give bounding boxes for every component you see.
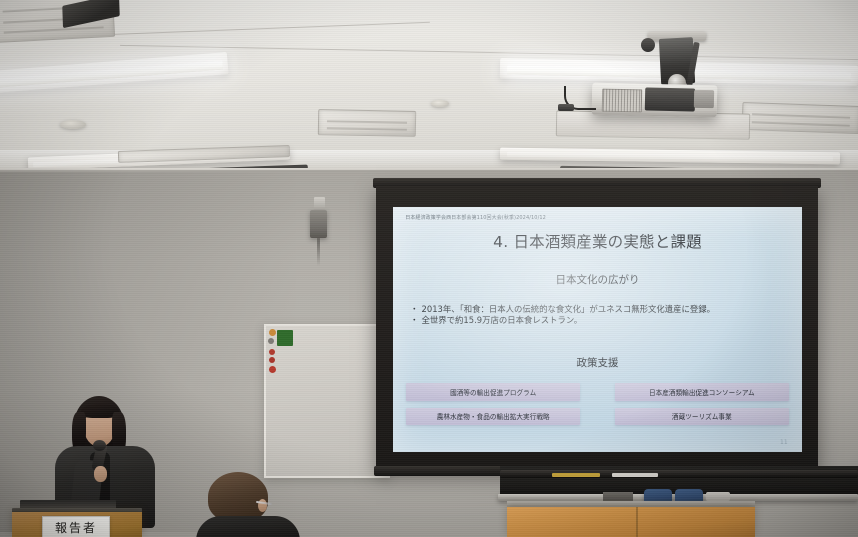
policy-box-3: 農林水産物・食品の輸出拡大実行戦略 (406, 408, 580, 426)
policy-box-1: 國酒等の輸出促進プログラム (406, 383, 580, 401)
slide-bullet-1: ・2013年、「和食：日本人の伝統的な食文化」がユネスコ無形文化遺産に登録。 (410, 304, 792, 316)
ceiling-vent-center (318, 109, 416, 137)
slide-page-number: 11 (780, 439, 788, 446)
smoke-detector (60, 120, 86, 129)
slide-bullet-2: ・全世界で約15.9万店の日本食レストラン。 (410, 315, 792, 327)
slide-section-heading: 政策支援 (393, 355, 802, 370)
audience-head (208, 472, 268, 522)
whiteboard-magnet-red-3 (269, 366, 276, 373)
desk-right-divider (636, 507, 638, 537)
whiteboard-magnet-grey (268, 338, 274, 344)
slide-bullet-1-text: 2013年、「和食：日本人の伝統的な食文化」がユネスコ無形文化遺産に登録。 (422, 304, 716, 314)
slide-title: 4. 日本酒類産業の実態と課題 (393, 230, 802, 252)
projector-connector-panel (645, 87, 695, 111)
policy-box-2: 日本産酒類輸出促進コンソーシアム (615, 383, 789, 401)
ceiling-vent-right (742, 102, 858, 134)
policy-box-4: 酒蔵ツーリズム事業 (615, 408, 789, 426)
whiteboard-magnet-red-1 (269, 349, 275, 355)
podium-sign: 報告者 (42, 516, 110, 537)
conference-room-photo: 日本経済政策学会西日本部会第110回大会(秋季)2024/10/12 4. 日本… (0, 0, 858, 537)
desk-right (507, 507, 755, 537)
microphone-head (93, 440, 106, 451)
slide-bullet-2-text: 全世界で約15.9万店の日本食レストラン。 (422, 315, 583, 325)
audience-member (200, 472, 305, 537)
wall-speaker-cable (317, 238, 320, 266)
wall-speaker-bracket (314, 197, 325, 211)
slide-subtitle: 日本文化の広がり (393, 272, 802, 287)
projector-cable-plug (558, 104, 574, 111)
desk-object-grey (706, 492, 730, 501)
presenter-hand (94, 466, 107, 482)
presentation-slide: 日本経済政策学会西日本部会第110回大会(秋季)2024/10/12 4. 日本… (393, 207, 802, 452)
slide-bullet-list: ・2013年、「和食：日本人の伝統的な食文化」がユネスコ無形文化遺産に登録。 ・… (410, 304, 792, 327)
whiteboard-green-card (277, 330, 293, 346)
projector-grille (602, 89, 642, 113)
slide-header-text: 日本経済政策学会西日本部会第110回大会(秋季)2024/10/12 (405, 214, 546, 221)
blackboard-marker-strip-yellow (552, 473, 600, 477)
smoke-detector-right (431, 100, 449, 107)
bullet-marker-icon: ・ (410, 304, 418, 314)
projector-lens-cover (694, 90, 714, 108)
audience-shoulders (196, 516, 300, 537)
wall-speaker (310, 210, 327, 238)
policy-support-grid: 國酒等の輸出促進プログラム 日本産酒類輸出促進コンソーシアム 農林水産物・食品の… (406, 383, 789, 425)
projector-mount-joint (641, 38, 655, 52)
whiteboard-magnet-orange (269, 329, 276, 336)
blackboard-marker-strip-white (612, 473, 658, 477)
whiteboard (264, 324, 390, 478)
bullet-marker-icon: ・ (410, 315, 418, 325)
whiteboard-magnet-red-2 (269, 357, 275, 363)
